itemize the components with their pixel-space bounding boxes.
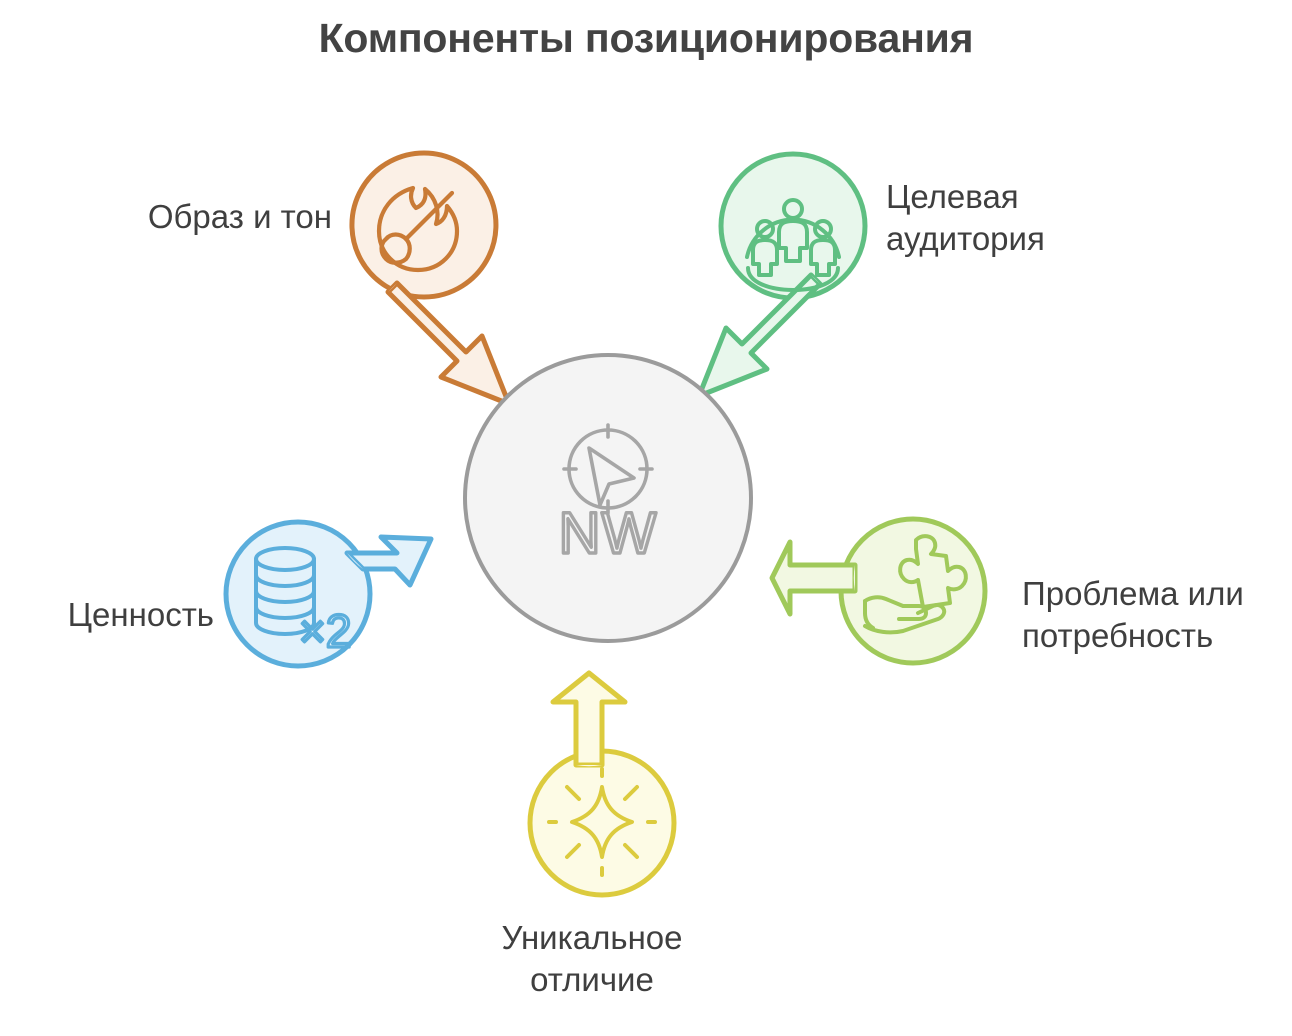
value-badge: ×2	[299, 605, 351, 657]
image-tone-arrow	[388, 283, 509, 404]
center-node[interactable]: NW	[465, 355, 751, 641]
node-unique-difference[interactable]	[530, 673, 674, 895]
target-audience-circle	[721, 154, 865, 298]
problem-need-circle	[841, 519, 985, 663]
node-target-audience[interactable]	[699, 154, 865, 396]
label-value: Ценность	[0, 594, 214, 636]
center-label: NW	[559, 501, 658, 566]
label-target-audience: Целевая аудитория	[886, 176, 1216, 260]
target-audience-arrow	[699, 275, 820, 396]
center-circle	[465, 355, 751, 641]
node-problem-need[interactable]	[772, 519, 985, 663]
diagram-canvas: Компоненты позиционирования	[0, 0, 1292, 1036]
diagram-graphics: ×2 NW	[0, 0, 1292, 1036]
label-problem-need: Проблема или потребность	[1022, 573, 1292, 657]
label-unique-difference: Уникальное отличие	[442, 917, 742, 1001]
image-tone-pin-shape	[352, 153, 496, 297]
label-image-tone: Образ и тон	[2, 196, 332, 238]
node-value[interactable]: ×2	[226, 522, 431, 666]
node-image-tone[interactable]	[352, 153, 509, 404]
